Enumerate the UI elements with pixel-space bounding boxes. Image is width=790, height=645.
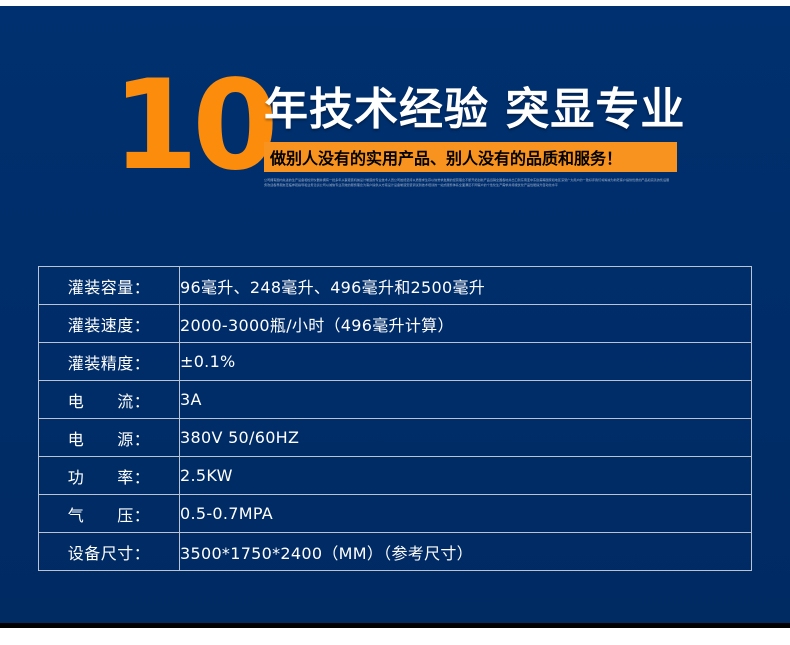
spec-label: 气 压： — [39, 495, 180, 533]
spec-value: 3500*1750*2400（MM）（参考尺寸） — [180, 533, 752, 571]
spec-value: 0.5-0.7MPA — [180, 495, 752, 533]
spec-label: 电 源： — [39, 419, 180, 457]
table-row: 灌装速度： 2000-3000瓶/小时（496毫升计算） — [39, 305, 752, 343]
page-root: 10 年技术经验 突显专业 做别人没有的实用产品、别人没有的品质和服务！ 公司拥… — [0, 0, 790, 645]
hero-text-block: 年技术经验 突显专业 做别人没有的实用产品、别人没有的品质和服务！ 公司拥有国内… — [264, 86, 684, 189]
spec-value: 3A — [180, 381, 752, 419]
spec-value: 380V 50/60HZ — [180, 419, 752, 457]
bottom-white-strip — [0, 628, 790, 645]
table-row: 气 压： 0.5-0.7MPA — [39, 495, 752, 533]
table-row: 灌装容量： 96毫升、248毫升、496毫升和2500毫升 — [39, 267, 752, 305]
years-number: 10 — [112, 64, 273, 188]
table-row: 设备尺寸： 3500*1750*2400（MM）（参考尺寸） — [39, 533, 752, 571]
spec-label: 灌装速度： — [39, 305, 180, 343]
table-row: 电 流： 3A — [39, 381, 752, 419]
spec-label: 设备尺寸： — [39, 533, 180, 571]
specification-table-body: 灌装容量： 96毫升、248毫升、496毫升和2500毫升 灌装速度： 2000… — [39, 267, 752, 571]
spec-label: 灌装容量： — [39, 267, 180, 305]
table-row: 电 源： 380V 50/60HZ — [39, 419, 752, 457]
spec-value: ±0.1% — [180, 343, 752, 381]
table-row: 灌装精度： ±0.1% — [39, 343, 752, 381]
spec-label: 功 率： — [39, 457, 180, 495]
hero-subtitle-text: 做别人没有的实用产品、别人没有的品质和服务！ — [270, 145, 622, 169]
spec-value: 2000-3000瓶/小时（496毫升计算） — [180, 305, 752, 343]
blue-background-panel: 10 年技术经验 突显专业 做别人没有的实用产品、别人没有的品质和服务！ 公司拥… — [0, 6, 790, 623]
spec-label: 灌装精度： — [39, 343, 180, 381]
spec-label: 电 流： — [39, 381, 180, 419]
hero-banner: 10 年技术经验 突显专业 做别人没有的实用产品、别人没有的品质和服务！ 公司拥… — [0, 6, 790, 236]
spec-value: 2.5KW — [180, 457, 752, 495]
spec-value: 96毫升、248毫升、496毫升和2500毫升 — [180, 267, 752, 305]
specification-table: 灌装容量： 96毫升、248毫升、496毫升和2500毫升 灌装速度： 2000… — [38, 266, 752, 571]
hero-headline: 年技术经验 突显专业 — [264, 86, 684, 134]
hero-subtitle-bar: 做别人没有的实用产品、别人没有的品质和服务！ — [264, 142, 677, 172]
hero-fineprint-text: 公司拥有国内先进的生产设备和检测仪器并拥有一批多年从事灌装机械设计制造的专业技术… — [264, 178, 672, 190]
table-row: 功 率： 2.5KW — [39, 457, 752, 495]
